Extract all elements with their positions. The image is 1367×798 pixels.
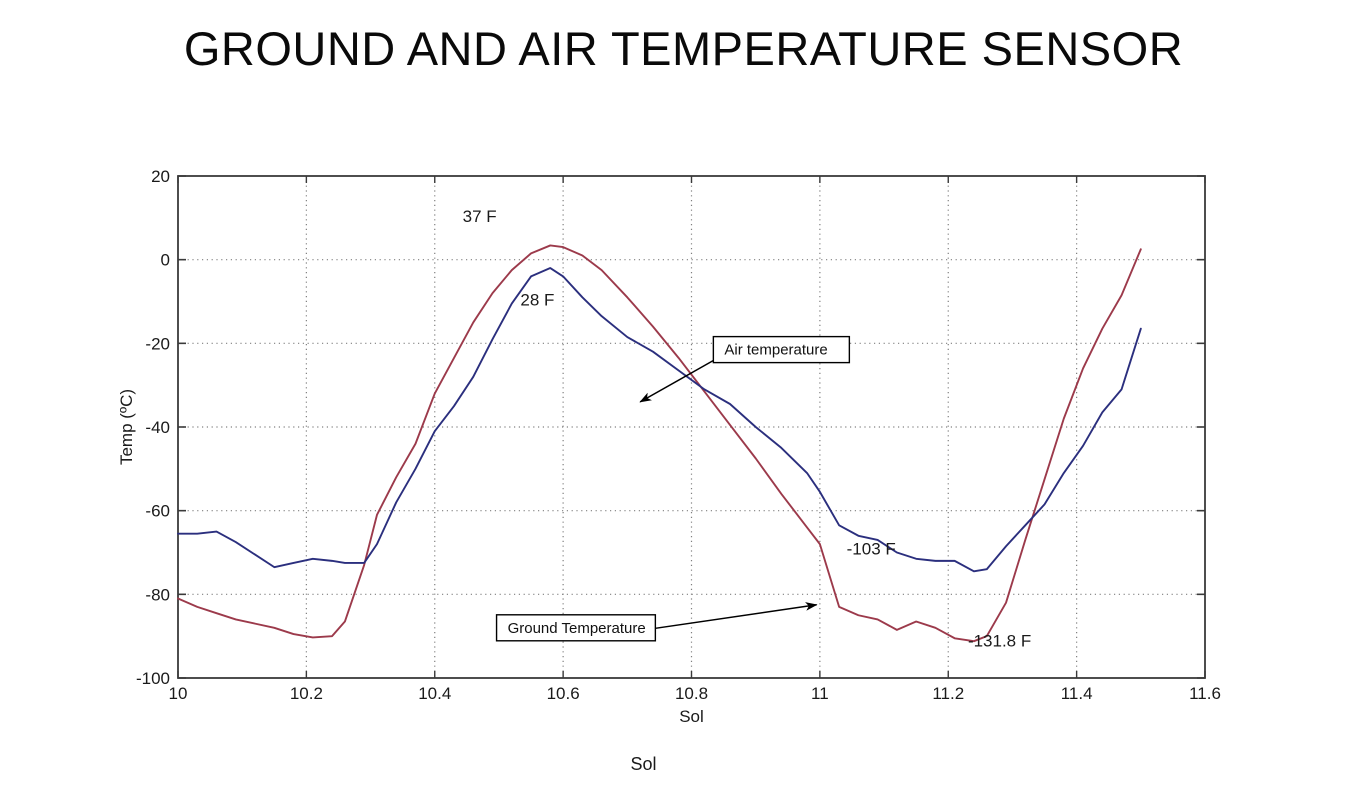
y-axis-title: Temp (ºC) — [117, 389, 136, 465]
data-point-label: 28 F — [520, 291, 554, 310]
data-series — [178, 245, 1141, 641]
chart-figure: 1010.210.410.610.81111.211.411.6-100-80-… — [108, 150, 1248, 770]
x-tick-label: 10.6 — [547, 684, 580, 703]
data-point-label: -131.8 F — [968, 632, 1031, 651]
figure-caption: Sol — [630, 754, 656, 770]
callout-air-temperature: Air temperature — [640, 337, 849, 402]
x-tick-label: 10.2 — [290, 684, 323, 703]
page-title: GROUND AND AIR TEMPERATURE SENSOR — [0, 22, 1367, 76]
x-tick-label: 10.8 — [675, 684, 708, 703]
callout-ground-temperature: Ground Temperature — [497, 605, 817, 641]
x-tick-label: 11.6 — [1189, 684, 1221, 703]
temperature-line-chart: 1010.210.410.610.81111.211.411.6-100-80-… — [108, 150, 1248, 770]
callout-annotations: Air temperatureGround Temperature — [497, 337, 850, 641]
y-tick-label: -60 — [145, 502, 170, 521]
data-point-label: 37 F — [463, 207, 497, 226]
data-point-label: -103 F — [847, 540, 896, 559]
y-tick-label: -20 — [145, 334, 170, 353]
callout-label: Ground Temperature — [508, 620, 646, 637]
x-tick-label: 10 — [169, 684, 188, 703]
x-tick-label: 10.4 — [418, 684, 451, 703]
callout-label: Air temperature — [724, 342, 827, 359]
y-tick-label: -40 — [145, 418, 170, 437]
data-point-labels: 37 F28 F-103 F-131.8 F — [463, 207, 1032, 651]
y-tick-label: -80 — [145, 585, 170, 604]
axis-titles: SolTemp (ºC) — [117, 389, 704, 726]
x-tick-label: 11.2 — [932, 684, 964, 703]
x-axis-title: Sol — [679, 707, 704, 726]
series-line-ground-temperature — [178, 245, 1141, 641]
y-tick-label: 0 — [161, 251, 170, 270]
gridlines — [178, 176, 1205, 678]
x-tick-label: 11.4 — [1061, 684, 1093, 703]
slide-canvas: GROUND AND AIR TEMPERATURE SENSOR 1010.2… — [0, 0, 1367, 798]
x-tick-label: 11 — [811, 684, 829, 703]
y-tick-label: -100 — [136, 669, 170, 688]
figure-caption-text: Sol — [630, 754, 656, 770]
series-line-air-temperature — [178, 268, 1141, 571]
y-tick-label: 20 — [151, 167, 170, 186]
